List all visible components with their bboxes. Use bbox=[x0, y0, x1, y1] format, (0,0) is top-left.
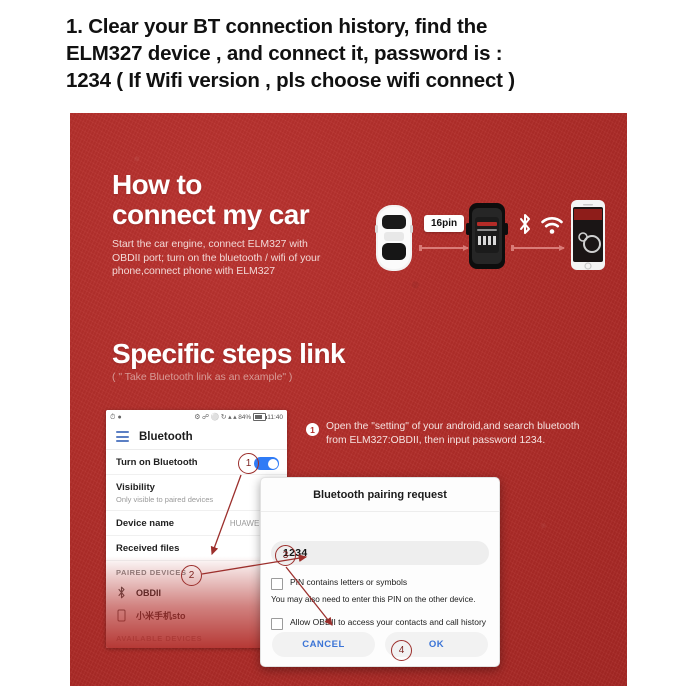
status-bar-time: 11:40 bbox=[267, 414, 283, 421]
status-bar-right: ⚙ ☍ ⚪ ↻ ▴ ▴ 84% 11:40 bbox=[194, 413, 283, 421]
step-1-line-1: Open the "setting" of your android,and s… bbox=[326, 420, 606, 434]
step-1-text: Open the "setting" of your android,and s… bbox=[326, 420, 606, 447]
rotate-icon: ↻ bbox=[221, 414, 227, 421]
how-to-body-line-3: phone,connect phone with ELM327 bbox=[112, 265, 362, 279]
marker-1: 1 bbox=[238, 453, 259, 474]
battery-percent: 84% bbox=[238, 414, 251, 421]
row-turn-on-bluetooth[interactable]: Turn on Bluetooth bbox=[106, 450, 287, 475]
how-to-heading: How to connect my car bbox=[112, 170, 309, 230]
specific-steps-subtitle: ( " Take Bluetooth link as an example" ) bbox=[112, 371, 292, 383]
marker-2: 2 bbox=[181, 565, 202, 586]
alarm-icon: ⏱ bbox=[110, 414, 115, 421]
elm327-dongle-icon bbox=[466, 203, 508, 269]
marker-4: 4 bbox=[391, 640, 412, 661]
step-1-line-2: from ELM327:OBDII, then input password 1… bbox=[326, 434, 606, 448]
caption-line-1: 1. Clear your BT connection history, fin… bbox=[66, 13, 641, 40]
instruction-poster: How to connect my car Start the car engi… bbox=[70, 113, 627, 686]
caption-line-3: 1234 ( If Wifi version , pls choose wifi… bbox=[66, 67, 641, 94]
smartphone-icon bbox=[570, 199, 606, 271]
arrow-dongle-to-phone bbox=[512, 247, 564, 249]
mute-icon: ⚪ bbox=[211, 414, 220, 421]
pin-label: 16pin bbox=[424, 215, 464, 232]
screenshot-root: 1. Clear your BT connection history, fin… bbox=[0, 0, 697, 697]
app-bar: Bluetooth bbox=[106, 424, 287, 450]
settings-icon: ⚙ bbox=[194, 414, 200, 421]
arrow-car-to-dongle bbox=[420, 247, 468, 249]
wifi-icon bbox=[540, 216, 564, 235]
location-icon: ● bbox=[117, 414, 121, 421]
checkbox-icon[interactable] bbox=[271, 578, 283, 590]
how-to-heading-line-2: connect my car bbox=[112, 200, 309, 230]
signal-icon-2: ▴ bbox=[233, 414, 237, 421]
status-bar-left: ⏱ ● bbox=[110, 414, 122, 421]
bluetooth-status-icon: ☍ bbox=[202, 414, 209, 421]
hamburger-icon[interactable] bbox=[116, 431, 129, 442]
how-to-body: Start the car engine, connect ELM327 wit… bbox=[112, 238, 362, 279]
bluetooth-icon bbox=[516, 213, 534, 235]
step-1-bullet: 1 bbox=[306, 423, 319, 436]
status-bar: ⏱ ● ⚙ ☍ ⚪ ↻ ▴ ▴ 84% 11:40 bbox=[106, 410, 287, 424]
paired-device-name: 小米手机sto bbox=[136, 609, 186, 622]
allow-contacts-checkbox-label: Allow OBDII to access your contacts and … bbox=[290, 617, 486, 628]
battery-icon bbox=[253, 413, 266, 421]
row-subtitle: Only visible to paired devices bbox=[116, 495, 277, 504]
row-title: Received files bbox=[116, 543, 277, 554]
dialog-body: 1234 PIN contains letters or symbols You… bbox=[261, 512, 499, 630]
dialog-title: Bluetooth pairing request bbox=[261, 478, 499, 512]
pin-input[interactable]: 1234 bbox=[271, 541, 489, 565]
page-title: 1. Clear your BT connection history, fin… bbox=[66, 13, 641, 94]
pin-letters-checkbox-row[interactable]: PIN contains letters or symbols bbox=[271, 577, 489, 590]
dialog-actions: CANCEL OK bbox=[261, 632, 499, 657]
car-icon bbox=[374, 203, 414, 273]
cancel-button[interactable]: CANCEL bbox=[272, 632, 375, 657]
app-bar-title: Bluetooth bbox=[139, 431, 193, 443]
paired-device-name: OBDII bbox=[136, 588, 161, 598]
dialog-note: You may also need to enter this PIN on t… bbox=[271, 594, 489, 605]
bluetooth-pairing-dialog: Bluetooth pairing request 1234 PIN conta… bbox=[260, 477, 500, 667]
bluetooth-icon bbox=[116, 586, 127, 599]
step-1-block: 1 Open the "setting" of your android,and… bbox=[306, 420, 606, 447]
how-to-heading-line-1: How to bbox=[112, 170, 309, 200]
pin-letters-checkbox-label: PIN contains letters or symbols bbox=[290, 577, 407, 588]
how-to-body-line-2: OBDII port; turn on the bluetooth / wifi… bbox=[112, 252, 362, 266]
specific-steps-heading: Specific steps link bbox=[112, 339, 345, 369]
caption-line-2: ELM327 device , and connect it, password… bbox=[66, 40, 641, 67]
connection-illustration: 16pin bbox=[370, 195, 620, 280]
allow-contacts-checkbox-row[interactable]: Allow OBDII to access your contacts and … bbox=[271, 617, 489, 630]
phone-icon bbox=[116, 609, 127, 622]
checkbox-icon[interactable] bbox=[271, 618, 283, 630]
signal-icon-1: ▴ bbox=[228, 414, 232, 421]
marker-3: 3 bbox=[275, 545, 296, 566]
how-to-body-line-1: Start the car engine, connect ELM327 wit… bbox=[112, 238, 362, 252]
row-title: Visibility bbox=[116, 482, 277, 493]
